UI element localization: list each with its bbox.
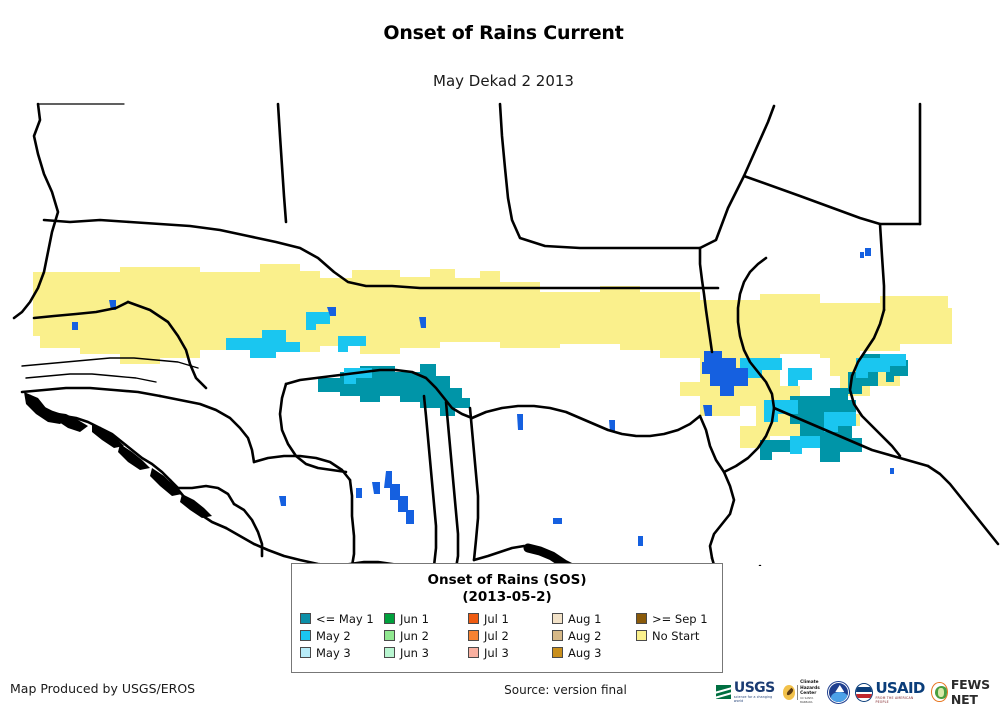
- legend-title: Onset of Rains (SOS): [292, 572, 722, 589]
- legend-swatch: [636, 630, 647, 641]
- legend-item[interactable]: Jul 3: [468, 645, 552, 661]
- africa-onset-of-rains-map[interactable]: [0, 96, 1007, 566]
- legend-label: Jun 1: [400, 612, 429, 626]
- legend-swatch: [552, 613, 563, 624]
- legend-swatch: [384, 613, 395, 624]
- legend-swatch: [468, 647, 479, 658]
- legend-item[interactable]: Jun 3: [384, 645, 468, 661]
- water-drop-icon: [783, 685, 796, 700]
- map-source-text: Source: version final: [504, 683, 627, 697]
- legend-swatch: [552, 630, 563, 641]
- partner-logos: USGS science for a changing world Climat…: [716, 676, 1007, 708]
- legend-swatch: [384, 647, 395, 658]
- legend-label: No Start: [652, 629, 699, 643]
- legend-item[interactable]: Jun 1: [384, 611, 468, 627]
- legend-item[interactable]: <= May 1: [300, 611, 384, 627]
- legend-label: Jul 2: [484, 629, 509, 643]
- legend-label: Aug 2: [568, 629, 601, 643]
- legend-item[interactable]: >= Sep 1: [636, 611, 720, 627]
- legend-item[interactable]: Jun 2: [384, 628, 468, 644]
- usaid-logo: USAID FROM THE AMERICAN PEOPLE: [855, 677, 925, 707]
- legend-column-may: <= May 1 May 2 May 3: [300, 611, 384, 662]
- usgs-logo: USGS science for a changing world: [716, 677, 777, 707]
- legend-swatch: [468, 630, 479, 641]
- legend-swatch: [636, 613, 647, 624]
- legend-label: >= Sep 1: [652, 612, 708, 626]
- legend-item[interactable]: No Start: [636, 628, 720, 644]
- map-legend: Onset of Rains (SOS) (2013-05-2) <= May …: [291, 563, 723, 673]
- legend-column-aug: Aug 1 Aug 2 Aug 3: [552, 611, 636, 662]
- noaa-logo: [828, 677, 849, 707]
- fews-net-logo: FEWS NET: [931, 677, 1007, 707]
- legend-label: Aug 3: [568, 646, 601, 660]
- legend-item[interactable]: Aug 2: [552, 628, 636, 644]
- legend-label: Jul 1: [484, 612, 509, 626]
- page-subtitle: May Dekad 2 2013: [0, 72, 1007, 90]
- legend-label: May 3: [316, 646, 351, 660]
- legend-label: Jun 3: [400, 646, 429, 660]
- legend-swatch: [300, 613, 311, 624]
- legend-swatch: [300, 647, 311, 658]
- map-canvas[interactable]: [0, 96, 1007, 566]
- legend-item[interactable]: Jul 2: [468, 628, 552, 644]
- divider: [797, 685, 798, 700]
- noaa-seagull-icon: [828, 682, 849, 703]
- legend-item-spacer: [636, 645, 720, 661]
- legend-item[interactable]: Aug 1: [552, 611, 636, 627]
- legend-date: (2013-05-2): [292, 589, 722, 606]
- legend-column-sep: >= Sep 1 No Start: [636, 611, 720, 662]
- legend-label: <= May 1: [316, 612, 374, 626]
- legend-label: Jul 3: [484, 646, 509, 660]
- legend-column-jul: Jul 1 Jul 2 Jul 3: [468, 611, 552, 662]
- legend-swatch: [552, 647, 563, 658]
- usgs-logo-text: USGS: [734, 681, 777, 695]
- usaid-shield-icon: [855, 683, 873, 702]
- legend-label: Aug 1: [568, 612, 601, 626]
- legend-columns: <= May 1 May 2 May 3 Jun 1 Ju: [292, 611, 722, 662]
- globe-icon: [931, 682, 947, 702]
- usaid-logo-tagline: FROM THE AMERICAN PEOPLE: [875, 696, 925, 704]
- legend-swatch: [384, 630, 395, 641]
- usgs-logo-tagline: science for a changing world: [734, 695, 777, 703]
- chc-subline: UC SANTA BARBARA: [800, 697, 822, 704]
- fews-net-logo-text: FEWS NET: [951, 677, 1007, 707]
- legend-item[interactable]: Aug 3: [552, 645, 636, 661]
- legend-label: May 2: [316, 629, 351, 643]
- usaid-logo-text: USAID: [875, 681, 925, 696]
- legend-label: Jun 2: [400, 629, 429, 643]
- usgs-wave-icon: [716, 685, 731, 699]
- legend-swatch: [300, 630, 311, 641]
- legend-item[interactable]: Jul 1: [468, 611, 552, 627]
- legend-item[interactable]: May 2: [300, 628, 384, 644]
- legend-column-jun: Jun 1 Jun 2 Jun 3: [384, 611, 468, 662]
- map-page: Onset of Rains Current May Dekad 2 2013: [0, 0, 1007, 715]
- climate-hazards-center-logo: Climate Hazards Center UC SANTA BARBARA: [783, 677, 823, 707]
- page-title: Onset of Rains Current: [0, 22, 1007, 44]
- legend-swatch: [468, 613, 479, 624]
- legend-item[interactable]: May 3: [300, 645, 384, 661]
